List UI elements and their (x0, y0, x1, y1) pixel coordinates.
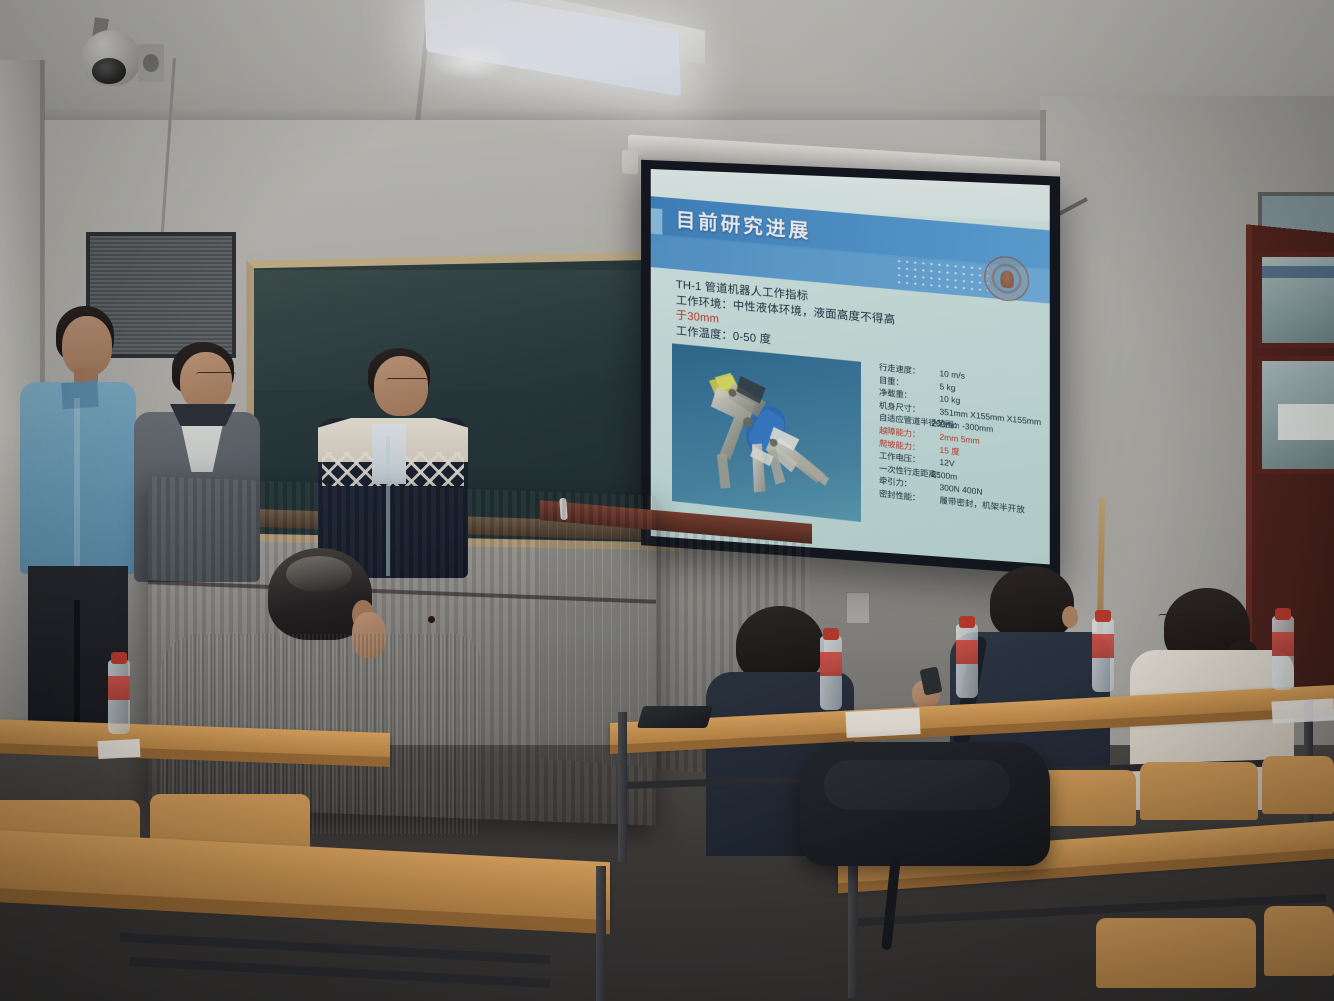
desk-leg (596, 866, 606, 1001)
hair (990, 566, 1074, 640)
bench-seat (1140, 762, 1258, 820)
desk-leg (618, 712, 627, 862)
bottle-label (1092, 634, 1114, 658)
desk-leg (848, 848, 858, 998)
camera-box-dial (143, 54, 159, 72)
bench-seat (1036, 770, 1136, 826)
university-emblem-core (1000, 270, 1013, 288)
shirt-placket (74, 398, 80, 568)
paper-sheet (1271, 698, 1334, 723)
projector-screen-housing-cap (622, 149, 638, 174)
backpack-flap (824, 760, 1010, 810)
podium-knob (428, 616, 435, 623)
classroom-scene: EXIT 目前研究进展 TH-1 管道机器人工作指标 工作环境：中性液体环境，液… (0, 0, 1334, 1001)
light-glow (430, 40, 510, 80)
head (180, 352, 232, 410)
collar (170, 404, 236, 426)
glasses-icon (196, 372, 236, 381)
spec-table: 行走速度： 10 m/s 目重： 5 kg 净载重： 10 kg 机身尺寸： 3… (879, 361, 1050, 519)
laptop (637, 706, 713, 728)
projection-surface: 目前研究进展 TH-1 管道机器人工作指标 工作环境：中性液体环境，液面高度不得… (651, 169, 1050, 564)
bottle-cap (823, 628, 839, 640)
bottle-label (1272, 632, 1294, 656)
glasses-icon (1158, 614, 1184, 623)
bench-seat (1096, 918, 1256, 988)
wall-outlet-box (846, 592, 870, 624)
head (62, 316, 112, 376)
paper-sheet (98, 739, 141, 759)
presentation-slide: 目前研究进展 TH-1 管道机器人工作指标 工作环境：中性液体环境，液面高度不得… (651, 169, 1050, 564)
bottle-cap (1275, 608, 1291, 620)
collar (61, 381, 99, 409)
ear (1062, 606, 1078, 628)
bottle-label (956, 640, 978, 664)
door-notice-paper (1278, 404, 1334, 440)
bottle-label (108, 676, 130, 700)
camera-lens-icon (92, 58, 126, 84)
bottle-label (820, 652, 842, 676)
glasses-icon (386, 378, 428, 387)
leg-gap (74, 600, 80, 740)
bottle-cap (959, 616, 975, 628)
pipeline-robot-icon (672, 343, 861, 522)
robot-render-image (672, 343, 861, 522)
door-glass-band (1262, 266, 1334, 278)
bottle-cap (1095, 610, 1111, 622)
projection-screen: 目前研究进展 TH-1 管道机器人工作指标 工作环境：中性液体环境，液面高度不得… (641, 160, 1060, 576)
bench-seat (1262, 756, 1334, 814)
paper-sheet (845, 708, 920, 738)
hair-highlight (286, 556, 352, 592)
bench-seat (1264, 906, 1334, 976)
bottle-cap (111, 652, 127, 664)
